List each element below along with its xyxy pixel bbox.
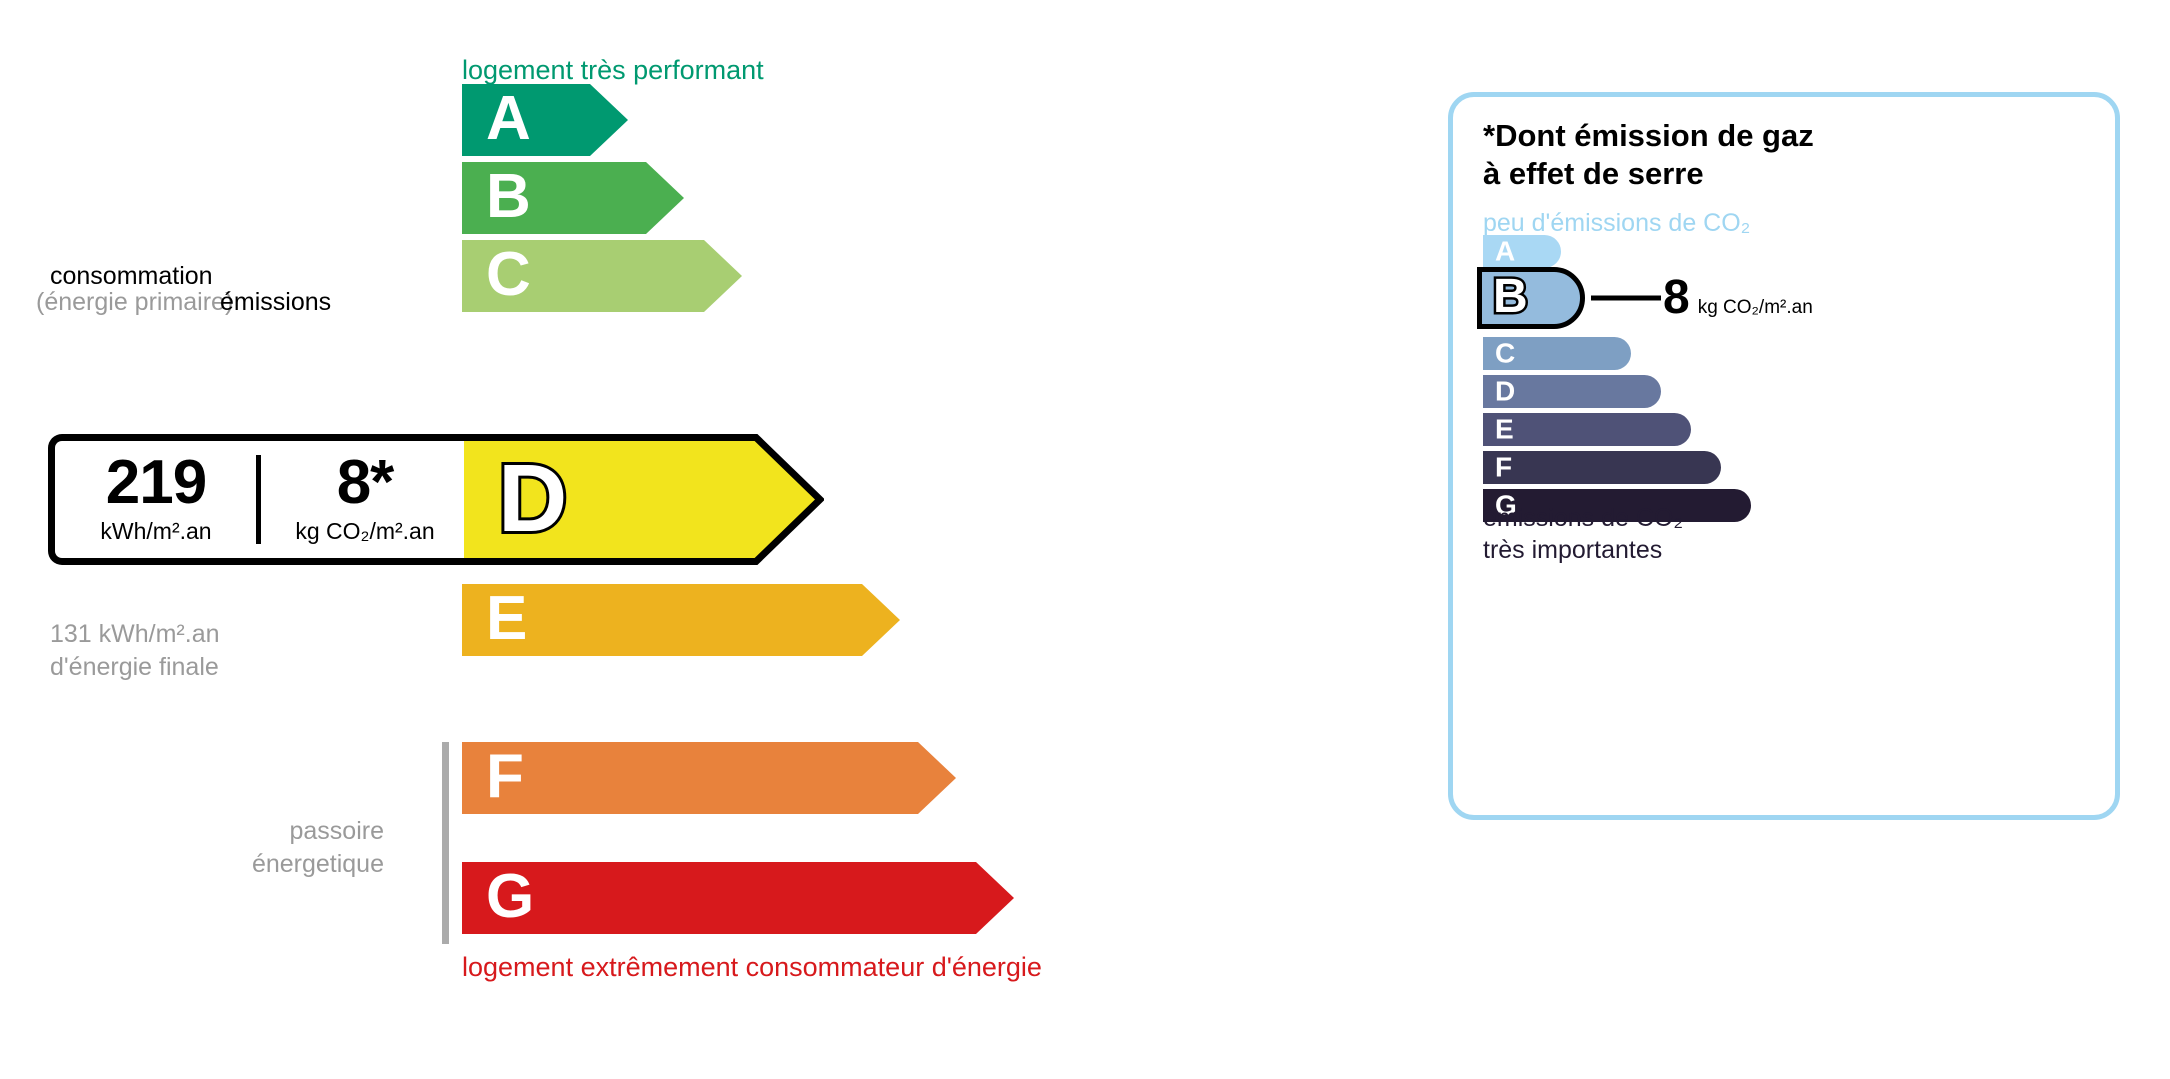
final-energy-note: 131 kWh/m².an d'énergie finale <box>50 618 220 684</box>
value-divider <box>256 455 261 544</box>
energy-bar-body <box>462 862 976 934</box>
energy-bar-b: B <box>462 162 684 234</box>
selected-energy-letter: D <box>498 451 567 547</box>
consumption-label: consommation <box>50 262 213 291</box>
energy-bar-tip <box>976 862 1014 934</box>
co2-bar-e: E <box>1483 413 1691 446</box>
energy-bar-tip <box>590 84 628 156</box>
energy-bar-g: G <box>462 862 1014 934</box>
co2-bar-body <box>1483 413 1691 446</box>
co2-bar-a: A <box>1483 235 1561 268</box>
passoire-bracket <box>442 742 449 944</box>
co2-bar-d: D <box>1483 375 1661 408</box>
co2-bar-letter: C <box>1495 339 1515 367</box>
co2-bar-f: F <box>1483 451 1721 484</box>
co2-panel: *Dont émission de gaz à effet de serre p… <box>1448 92 2120 820</box>
energy-bar-tip <box>704 240 742 312</box>
value-box: 219 kWh/m².an 8* kg CO₂/m².an <box>48 434 464 565</box>
energy-bottom-caption: logement extrêmement consommateur d'éner… <box>462 952 1042 983</box>
co2-bar-letter: F <box>1495 453 1512 481</box>
energy-bar-a: A <box>462 84 628 156</box>
energy-performance-chart: logement très performant ABCEFG consomma… <box>0 0 1400 1079</box>
co2-value: 8 <box>1663 274 1690 322</box>
selected-energy-arrow: D <box>464 434 824 565</box>
energy-bar-letter: C <box>486 244 531 306</box>
emissions-value: 8* <box>337 454 394 513</box>
co2-bar-letter: D <box>1495 377 1515 405</box>
co2-panel-title: *Dont émission de gaz à effet de serre <box>1483 117 1814 194</box>
energy-bar-tip <box>646 162 684 234</box>
emissions-unit: kg CO₂/m².an <box>295 518 434 545</box>
co2-bottom-caption: émissions de CO₂ très importantes <box>1483 503 1683 566</box>
selected-co2-letter: B <box>1493 273 1528 321</box>
energy-bar-f: F <box>462 742 956 814</box>
energy-bar-letter: B <box>486 166 531 228</box>
energy-bar-letter: A <box>486 88 531 150</box>
co2-bar-letter: E <box>1495 415 1514 443</box>
energy-bar-e: E <box>462 584 900 656</box>
energy-bar-tip <box>862 584 900 656</box>
energy-bar-tip <box>918 742 956 814</box>
co2-bar-c: C <box>1483 337 1631 370</box>
consumption-value-cell: 219 kWh/m².an <box>55 441 257 558</box>
energy-bar-c: C <box>462 240 742 312</box>
energy-bar-body <box>462 742 918 814</box>
emissions-label: émissions <box>220 288 331 317</box>
co2-value-group: 8 kg CO₂/m².an <box>1663 274 1813 322</box>
co2-leader-line <box>1591 296 1661 301</box>
energy-bar-letter: F <box>486 746 524 808</box>
co2-value-unit: kg CO₂/m².an <box>1698 297 1813 319</box>
consumption-value: 219 <box>106 454 206 513</box>
co2-top-caption: peu d'émissions de CO₂ <box>1483 209 1750 238</box>
emissions-value-cell: 8* kg CO₂/m².an <box>265 441 465 558</box>
co2-bar-body <box>1483 451 1721 484</box>
co2-bar-letter: A <box>1495 237 1515 265</box>
consumption-unit: kWh/m².an <box>100 518 211 545</box>
energy-bar-letter: G <box>486 866 534 928</box>
primary-energy-label: (énergie primaire) <box>36 288 233 317</box>
passoire-label: passoire énergetique <box>252 815 384 881</box>
energy-bar-letter: E <box>486 588 527 650</box>
energy-top-caption: logement très performant <box>462 55 764 86</box>
